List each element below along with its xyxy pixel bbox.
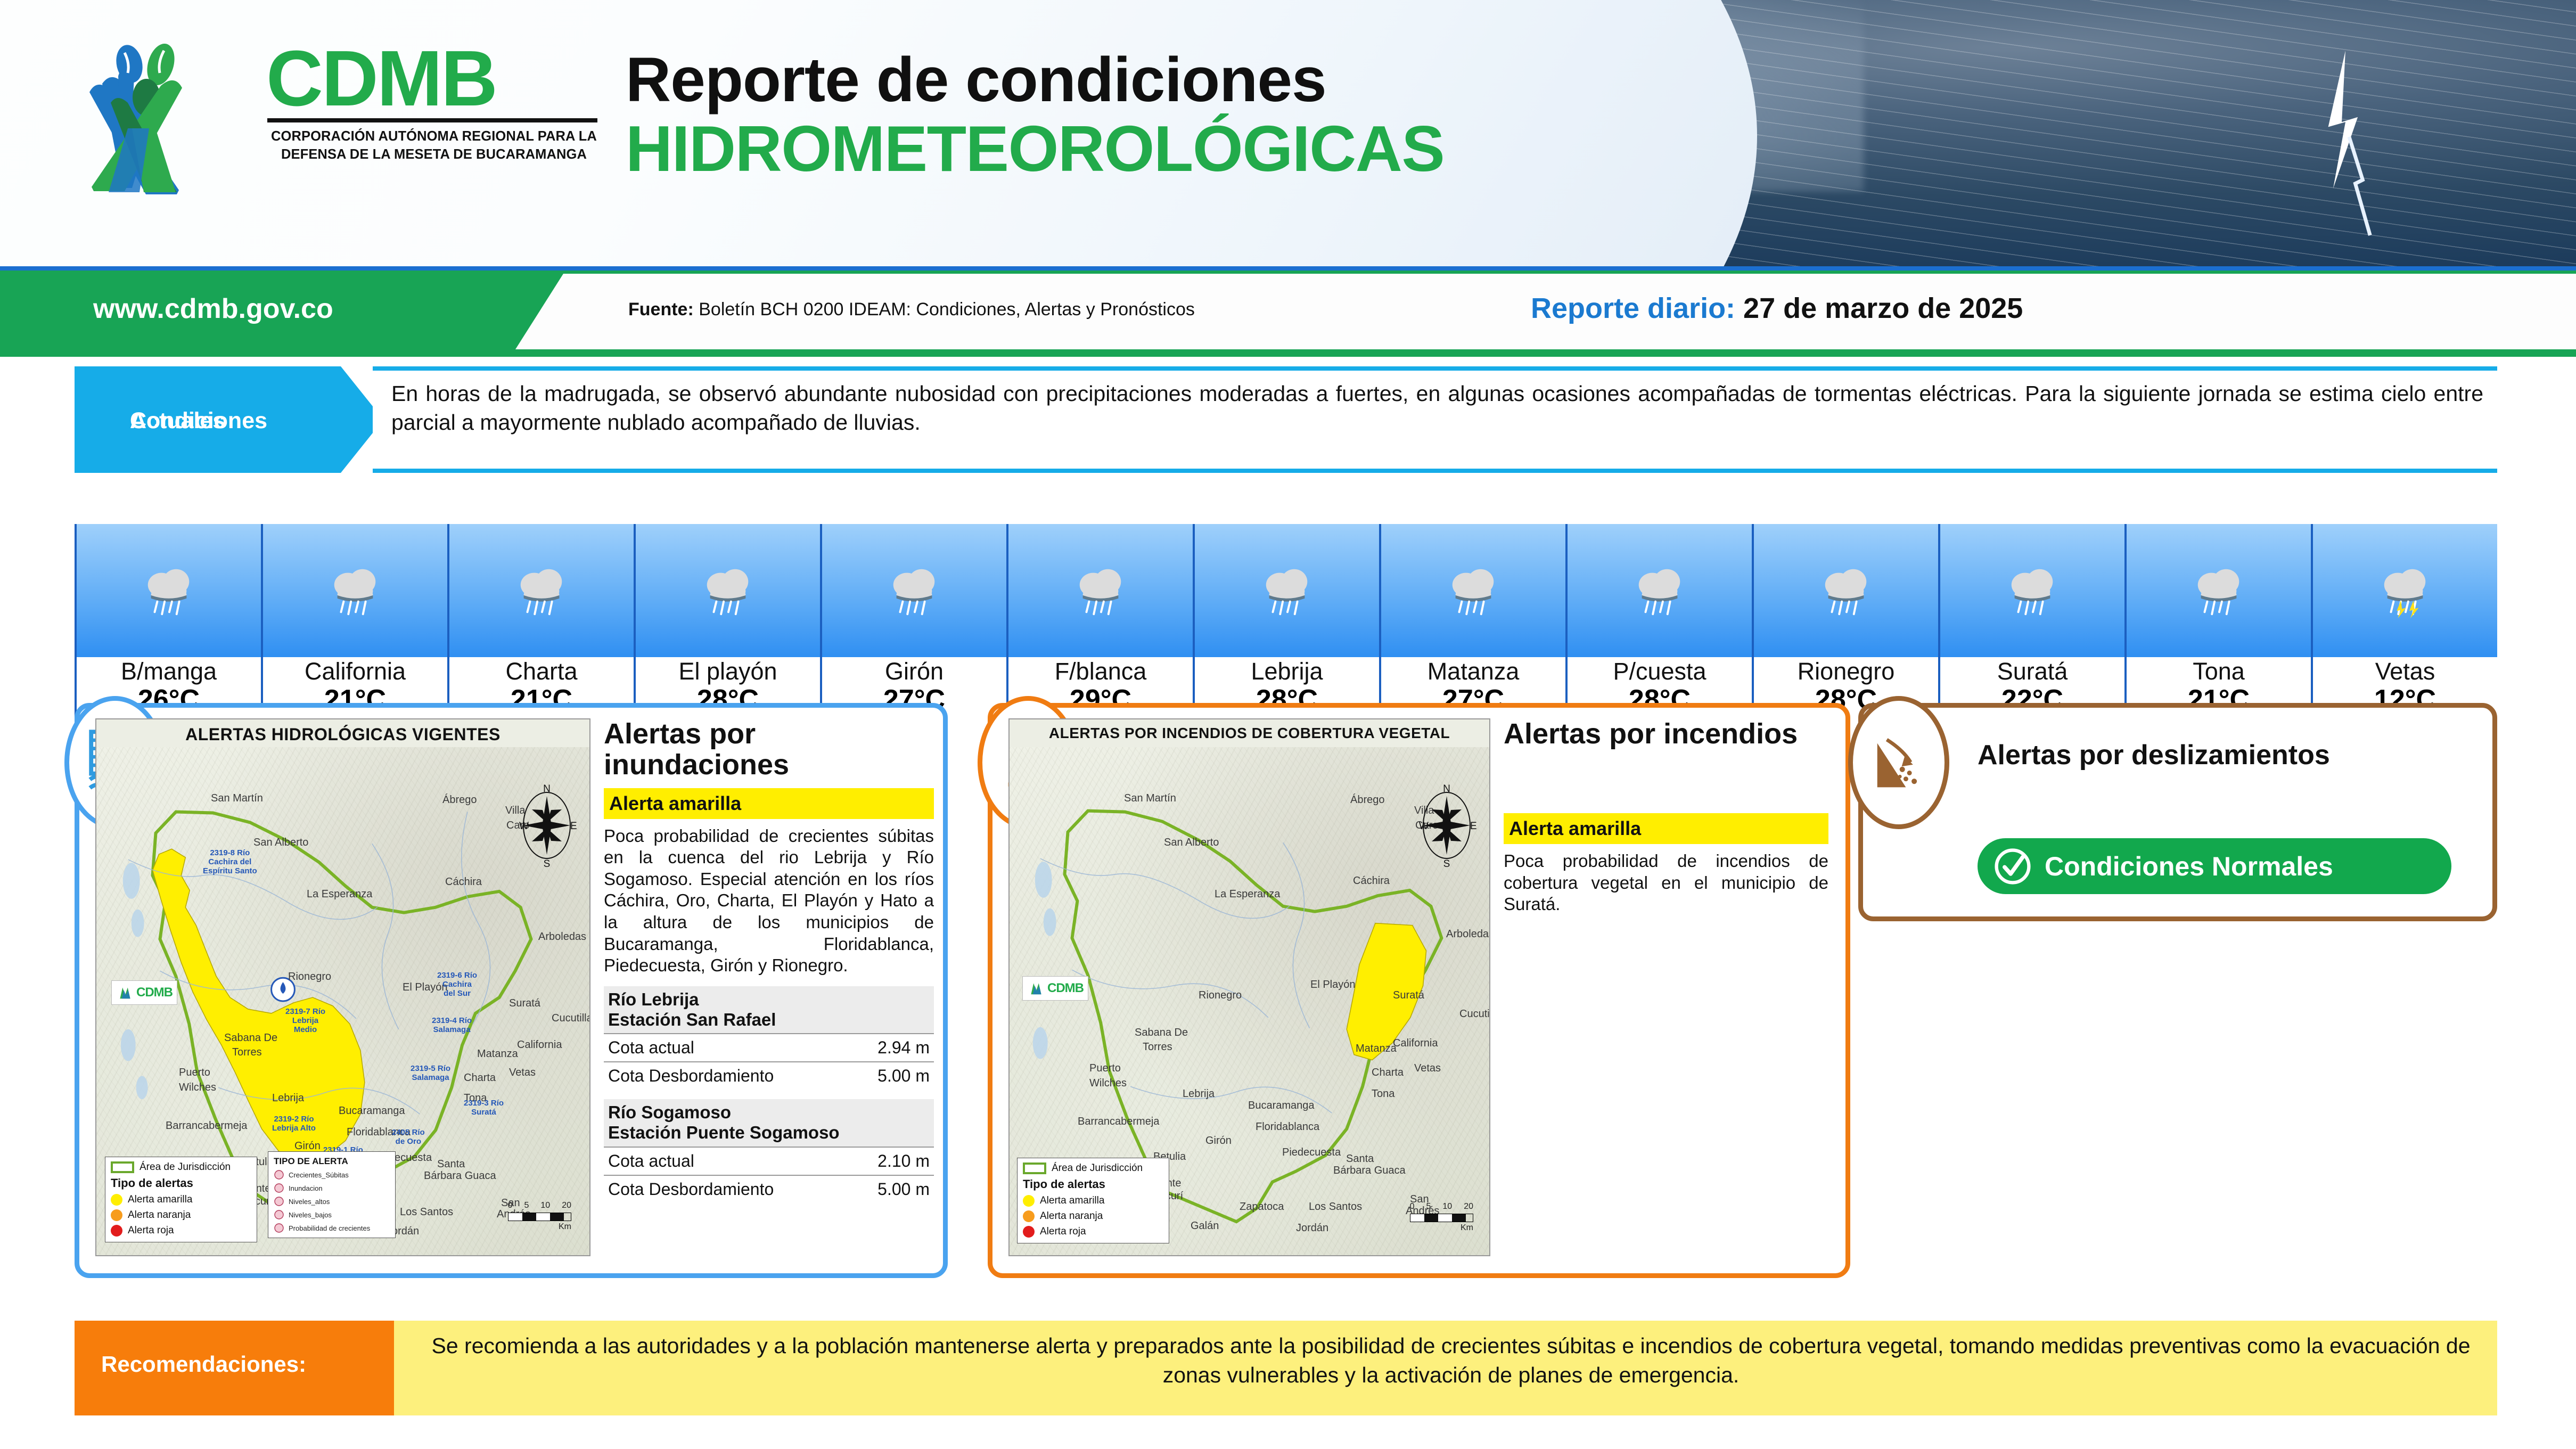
fire-info: Alertas por incendios Alerta amarilla Po…	[1504, 718, 1828, 915]
map-place-label: Puerto	[179, 1067, 210, 1079]
scale-tick: 20	[1464, 1202, 1473, 1211]
map-place-label: Ábrego	[442, 794, 477, 806]
report-date: Reporte diario: 27 de marzo de 2025	[1531, 292, 2023, 325]
svg-text:W: W	[519, 821, 529, 832]
map-place-label: Santa	[1346, 1153, 1374, 1165]
map-place-label: Ábrego	[1350, 794, 1385, 806]
map-place-label: Los Santos	[1309, 1201, 1362, 1213]
legend-header: Tipo de alertas	[1023, 1177, 1163, 1191]
city-name: F/blanca	[1008, 658, 1193, 685]
flood-map-legend: Área de Jurisdicción Tipo de alertas Ale…	[105, 1157, 257, 1242]
weather-cell-9	[1754, 524, 1940, 657]
rain-cloud-icon	[1256, 562, 1318, 619]
alert-type-legend-header: TIPO DE ALERTA	[274, 1156, 390, 1167]
flood-alert-panel: ALERTAS HIDROLÓGICAS VIGENTES	[75, 703, 948, 1278]
map-place-label: Bárbara Guaca	[424, 1170, 496, 1182]
map-place-label: Cucutilla	[552, 1012, 590, 1025]
scale-tick: 10	[1442, 1202, 1452, 1211]
report-date-label: Reporte diario:	[1531, 292, 1735, 324]
station-row-label: Cota Desbordamiento	[608, 1180, 774, 1199]
station-header: Río LebrijaEstación San Rafael	[604, 986, 934, 1034]
weather-cell-1	[263, 524, 449, 657]
legend-color-dot	[111, 1225, 122, 1237]
map-scale-bar: 051020 Km	[508, 1201, 571, 1232]
fire-description: Poca probabilidad de incendios de cobert…	[1504, 850, 1828, 915]
map-place-label: Galán	[1191, 1220, 1219, 1232]
map-place-label: Charta	[464, 1072, 496, 1084]
flood-station-tables: Río LebrijaEstación San RafaelCota actua…	[604, 986, 934, 1203]
map-place-label: Piedecuesta	[1282, 1147, 1341, 1159]
logo-initials: CDMB	[266, 43, 607, 115]
report-date-value: 27 de marzo de 2025	[1735, 292, 2023, 324]
alert-type-item: Inundacion	[274, 1183, 390, 1193]
check-circle-icon	[1992, 846, 2033, 887]
weather-cell-4	[822, 524, 1008, 657]
legend-item-label: Alerta naranja	[1040, 1210, 1103, 1222]
map-place-label: Zapatoca	[1240, 1201, 1284, 1213]
logo-subtitle-line2: DEFENSA DE LA MESETA DE BUCARAMANGA	[266, 146, 602, 164]
map-place-label: 2319-6 RíoCachiradel Sur	[437, 971, 477, 998]
alert-type-item: Crecientes_Súbitas	[274, 1169, 390, 1180]
map-place-label: 2319-7 RíoLebrijaMedio	[285, 1007, 325, 1034]
map-cdmb-logo: CDMB	[111, 980, 177, 1005]
station-row: Cota Desbordamiento5.00 m	[604, 1175, 934, 1203]
landslide-status-badge: Condiciones Normales	[1978, 838, 2451, 894]
legend-item: Alerta roja	[111, 1225, 251, 1237]
scale-tick: 5	[524, 1201, 529, 1210]
map-place-label: Cáchira	[445, 876, 482, 888]
map-place-label: La Esperanza	[1215, 888, 1280, 900]
scale-tick: 20	[562, 1201, 571, 1210]
map-place-label: San Alberto	[1164, 837, 1219, 849]
map-place-label: Torres	[232, 1046, 262, 1059]
weather-cell-10	[1940, 524, 2127, 657]
rain-cloud-icon	[324, 562, 387, 619]
map-place-label: 2319-5 RíoSalamaga	[411, 1064, 450, 1082]
thunderstorm-icon	[2374, 562, 2436, 619]
station-row: Cota actual2.10 m	[604, 1147, 934, 1175]
station-row-label: Cota Desbordamiento	[608, 1066, 774, 1086]
map-place-label: Torres	[1143, 1041, 1172, 1053]
map-terrain: San MartínSan AlbertoÁbregoVillaCaroCách…	[1010, 747, 1489, 1256]
fire-map-legend: Área de Jurisdicción Tipo de alertas Ale…	[1017, 1158, 1169, 1243]
map-place-label: Cáchira	[1353, 875, 1390, 887]
station-row-value: 2.10 m	[877, 1151, 930, 1171]
station-block: Río SogamosoEstación Puente SogamosoCota…	[604, 1099, 934, 1203]
station-row-label: Cota actual	[608, 1151, 694, 1171]
jurisdiction-swatch	[1023, 1163, 1046, 1174]
recommendations-tag-label: Recomendaciones:	[101, 1352, 306, 1377]
alert-type-label: Probabilidad de crecientes	[289, 1224, 370, 1232]
map-place-label: Rionegro	[1199, 989, 1242, 1002]
map-place-label: Charta	[1372, 1067, 1404, 1079]
map-place-label: Bárbara Guaca	[1333, 1165, 1406, 1177]
fire-heading: Alertas por incendios	[1504, 718, 1828, 749]
map-place-label: 2319-8 RíoCachira delEspíritu Santo	[203, 848, 257, 875]
hydrological-alert-map[interactable]: ALERTAS HIDROLÓGICAS VIGENTES	[95, 718, 590, 1256]
city-name: P/cuesta	[1568, 658, 1752, 685]
city-name: Lebrija	[1195, 658, 1379, 685]
alert-type-item: Probabilidad de crecientes	[274, 1223, 390, 1233]
landslide-heading: Alertas por deslizamientos	[1978, 740, 2330, 771]
scale-tick: 0	[1410, 1202, 1415, 1211]
map-place-label: Tona	[1372, 1088, 1394, 1100]
station-header: Río SogamosoEstación Puente Sogamoso	[604, 1099, 934, 1147]
fire-map-title: ALERTAS POR INCENDIOS DE COBERTURA VEGET…	[1010, 725, 1489, 742]
map-place-label: Bucaramanga	[1248, 1100, 1315, 1112]
fire-alert-level-badge: Alerta amarilla	[1504, 813, 1828, 844]
conditions-body: En horas de la madrugada, se observó abu…	[373, 366, 2497, 473]
station-row-value: 5.00 m	[877, 1066, 930, 1086]
legend-items: Alerta amarillaAlerta naranjaAlerta roja	[1023, 1195, 1163, 1238]
rain-cloud-icon	[1815, 562, 1877, 619]
weather-icon-strip	[75, 524, 2497, 657]
alert-type-label: Inundacion	[289, 1184, 323, 1192]
rain-cloud-icon	[1628, 562, 1691, 619]
map-place-label: Lebrija	[1183, 1088, 1215, 1100]
station-row-label: Cota actual	[608, 1038, 694, 1058]
legend-item: Alerta amarilla	[111, 1194, 251, 1206]
map-place-label: Bucaramanga	[339, 1105, 405, 1117]
map-place-label: La Esperanza	[307, 888, 372, 900]
legend-item-label: Alerta amarilla	[1040, 1195, 1104, 1207]
recommendations-text: Se recomienda a las autoridades y a la p…	[394, 1321, 2497, 1389]
alert-type-symbol-icon	[274, 1196, 284, 1207]
map-place-label: California	[1393, 1037, 1438, 1050]
landslide-status-text: Condiciones Normales	[2045, 851, 2333, 882]
svg-text:E: E	[1470, 821, 1477, 832]
rain-cloud-icon	[1069, 562, 1132, 619]
weather-cell-11	[2127, 524, 2313, 657]
weather-cell-3	[636, 524, 822, 657]
city-name: Tona	[2127, 658, 2311, 685]
flood-description: Poca probabilidad de crecientes súbitas …	[604, 825, 934, 977]
alert-type-item: Niveles_altos	[274, 1196, 390, 1207]
compass-rose-icon: N S W E	[1415, 780, 1479, 871]
map-place-label: California	[517, 1039, 562, 1051]
rain-cloud-icon	[696, 562, 759, 619]
weather-cell-12	[2313, 524, 2497, 657]
map-place-label: Sabana De	[224, 1032, 277, 1044]
source-credit: Fuente: Boletín BCH 0200 IDEAM: Condicio…	[628, 299, 1195, 320]
flood-map-title: ALERTAS HIDROLÓGICAS VIGENTES	[96, 725, 589, 744]
map-place-label: Barrancabermeja	[1078, 1116, 1159, 1128]
website-url[interactable]: www.cdmb.gov.co	[93, 293, 333, 325]
cdmb-logo-mark	[69, 35, 258, 194]
legend-color-dot	[111, 1194, 122, 1206]
legend-header: Tipo de alertas	[111, 1176, 251, 1190]
flood-info: Alertas por inundaciones Alerta amarilla…	[604, 718, 934, 1203]
rain-cloud-icon	[883, 562, 946, 619]
svg-text:S: S	[1443, 858, 1450, 870]
map-place-label: Sabana De	[1135, 1027, 1188, 1039]
city-name: California	[263, 658, 447, 685]
map-place-label: 2319-4 RíoSalamaga	[432, 1016, 472, 1034]
map-place-label: Rionegro	[288, 971, 331, 983]
source-value: Boletín BCH 0200 IDEAM: Condiciones, Ale…	[694, 299, 1195, 320]
lightning-bolt-icon	[2306, 51, 2385, 248]
source-bar: www.cdmb.gov.co Fuente: Boletín BCH 0200…	[0, 266, 2576, 357]
weather-cell-5	[1008, 524, 1195, 657]
rain-cloud-icon	[2001, 562, 2064, 619]
alert-type-label: Niveles_altos	[289, 1198, 330, 1206]
alert-type-label: Niveles_bajos	[289, 1211, 332, 1219]
legend-item: Alerta naranja	[1023, 1210, 1163, 1222]
source-label: Fuente:	[628, 299, 694, 320]
legend-color-dot	[1023, 1226, 1035, 1238]
legend-item-label: Alerta roja	[128, 1225, 174, 1237]
alert-type-symbol-icon	[274, 1183, 284, 1193]
landslide-icon	[1848, 696, 1949, 829]
rain-cloud-icon	[510, 562, 573, 619]
alert-type-items: Crecientes_SúbitasInundacionNiveles_alto…	[274, 1169, 390, 1233]
blue-rule	[0, 266, 2576, 271]
recommendations-body: Se recomienda a las autoridades y a la p…	[394, 1321, 2497, 1415]
legend-jurisdiction-label: Área de Jurisdicción	[1052, 1163, 1143, 1174]
map-place-label: 2319-2 RíoLebrija Alto	[272, 1115, 316, 1133]
legend-item: Alerta roja	[1023, 1226, 1163, 1238]
alert-type-symbol-icon	[274, 1223, 284, 1233]
map-place-label: Los Santos	[400, 1206, 453, 1218]
legend-items: Alerta amarillaAlerta naranjaAlerta roja	[111, 1194, 251, 1237]
map-place-label: 2319-3 RíoSuratá	[464, 1099, 504, 1117]
conditions-tag-line2: Actuales	[130, 407, 225, 436]
alert-type-label: Crecientes_Súbitas	[289, 1171, 349, 1179]
scale-unit: Km	[508, 1222, 571, 1232]
weather-cell-7	[1381, 524, 1568, 657]
legend-item-label: Alerta amarilla	[128, 1194, 192, 1206]
fire-alert-map[interactable]: ALERTAS POR INCENDIOS DE COBERTURA VEGET…	[1008, 718, 1490, 1256]
alert-type-symbol-icon	[274, 1169, 284, 1180]
station-row-value: 2.94 m	[877, 1038, 930, 1058]
flood-alert-level-badge: Alerta amarilla	[604, 788, 934, 819]
legend-color-dot	[1023, 1210, 1035, 1222]
map-place-label: Vetas	[509, 1067, 536, 1079]
map-place-label: Barrancabermeja	[166, 1120, 247, 1132]
svg-text:S: S	[544, 858, 551, 870]
current-conditions-section: CondicionesActuales En horas de la madru…	[0, 366, 2576, 478]
weather-cell-2	[449, 524, 636, 657]
map-place-label: Arboledas	[1446, 928, 1490, 940]
jurisdiction-swatch	[111, 1161, 134, 1173]
map-place-label: Santa	[437, 1158, 465, 1170]
map-place-label: Girón	[1205, 1135, 1232, 1147]
cdmb-logo: CDMB CORPORACIÓN AUTÓNOMA REGIONAL PARA …	[69, 29, 618, 205]
station-row: Cota Desbordamiento5.00 m	[604, 1061, 934, 1090]
recommendations-section: Recomendaciones: Se recomienda a las aut…	[0, 1321, 2576, 1422]
legend-item: Alerta naranja	[111, 1209, 251, 1221]
city-name: Vetas	[2313, 658, 2497, 685]
map-place-label: Lebrija	[272, 1092, 304, 1104]
city-name: Rionegro	[1754, 658, 1938, 685]
scale-tick: 5	[1426, 1202, 1431, 1211]
svg-text:E: E	[570, 821, 577, 832]
map-place-label: San Alberto	[253, 837, 308, 849]
map-place-label: Arboledas	[538, 931, 586, 943]
legend-item-label: Alerta roja	[1040, 1226, 1086, 1238]
map-place-label: Suratá	[1393, 989, 1424, 1002]
station-row: Cota actual2.94 m	[604, 1033, 934, 1061]
rain-cloud-icon	[137, 562, 200, 619]
rain-cloud-icon	[1442, 562, 1505, 619]
station-row-value: 5.00 m	[877, 1180, 930, 1199]
fire-alert-panel: ALERTAS POR INCENDIOS DE COBERTURA VEGET…	[988, 703, 1850, 1278]
city-name: Charta	[449, 658, 634, 685]
svg-text:W: W	[1419, 821, 1429, 832]
city-name: El playón	[636, 658, 820, 685]
legend-color-dot	[111, 1209, 122, 1221]
map-place-label: Matanza	[1356, 1043, 1397, 1055]
alert-type-symbol-icon	[274, 1209, 284, 1220]
map-cdmb-logo: CDMB	[1022, 976, 1088, 1001]
city-name: B/manga	[77, 658, 261, 685]
map-place-label: El Playón	[1310, 979, 1356, 991]
station-block: Río LebrijaEstación San RafaelCota actua…	[604, 986, 934, 1090]
map-place-label: Wilches	[1089, 1077, 1127, 1090]
city-name: Girón	[822, 658, 1006, 685]
map-place-label: Girón	[294, 1140, 321, 1152]
scale-unit: Km	[1410, 1223, 1473, 1233]
alert-panels: ALERTAS HIDROLÓGICAS VIGENTES	[0, 703, 2576, 1289]
flood-alert-type-legend: TIPO DE ALERTA Crecientes_SúbitasInundac…	[268, 1151, 396, 1238]
weather-cell-6	[1195, 524, 1381, 657]
scale-tick: 10	[540, 1201, 550, 1210]
flood-heading: Alertas por inundaciones	[604, 718, 934, 781]
conditions-tag: CondicionesActuales	[75, 366, 383, 473]
svg-text:N: N	[1443, 783, 1450, 795]
map-place-label: Matanza	[477, 1048, 518, 1060]
title-line-2: HIDROMETEOROLÓGICAS	[626, 115, 1444, 183]
map-place-label: Wilches	[179, 1082, 216, 1094]
map-place-label: Vetas	[1414, 1062, 1441, 1075]
landslide-alert-panel: Alertas por deslizamientos Condiciones N…	[1858, 703, 2497, 921]
map-place-label: Suratá	[509, 997, 540, 1010]
legend-item-label: Alerta naranja	[128, 1209, 191, 1221]
map-place-label: San Martín	[1124, 792, 1176, 805]
map-place-label: Puerto	[1089, 1062, 1121, 1075]
map-place-label: San Martín	[211, 792, 263, 805]
map-scale-bar: 051020 Km	[1410, 1202, 1473, 1233]
map-terrain: San MartínSan AlbertoÁbregoVillaCaroCách…	[96, 747, 589, 1256]
conditions-text: En horas de la madrugada, se observó abu…	[373, 371, 2497, 437]
map-place-label: 2405 Ríode Oro	[392, 1128, 425, 1146]
title-line-1: Reporte de condiciones	[626, 48, 1444, 112]
map-place-label: Floridablanca	[1256, 1121, 1319, 1133]
scale-tick: 0	[508, 1201, 513, 1210]
rain-cloud-icon	[2187, 562, 2250, 619]
page-header: CDMB CORPORACIÓN AUTÓNOMA REGIONAL PARA …	[0, 0, 2576, 266]
weather-cell-0	[75, 524, 263, 657]
weather-cell-8	[1568, 524, 1754, 657]
logo-subtitle-line1: CORPORACIÓN AUTÓNOMA REGIONAL PARA LA	[266, 128, 602, 146]
city-name: Matanza	[1381, 658, 1565, 685]
legend-color-dot	[1023, 1195, 1035, 1207]
map-place-label: Jordán	[1296, 1222, 1328, 1234]
legend-item: Alerta amarilla	[1023, 1195, 1163, 1207]
alert-type-item: Niveles_bajos	[274, 1209, 390, 1220]
legend-jurisdiction-label: Área de Jurisdicción	[140, 1161, 231, 1173]
green-rule	[0, 351, 2576, 357]
svg-text:N: N	[543, 783, 551, 795]
map-place-label: Cucutilla	[1459, 1008, 1490, 1020]
page-title: Reporte de condiciones HIDROMETEOROLÓGIC…	[626, 48, 1444, 183]
compass-rose-icon: N S W E	[515, 780, 579, 871]
city-name: Suratá	[1940, 658, 2124, 685]
